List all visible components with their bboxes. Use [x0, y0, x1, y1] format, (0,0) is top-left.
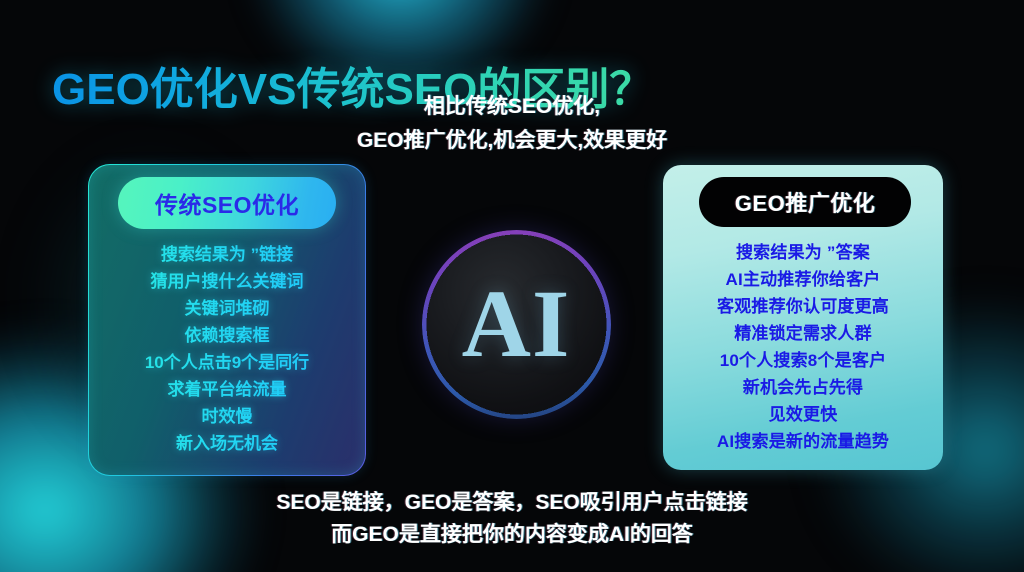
geo-promotion-panel: GEO推广优化 搜索结果为 ”答案 AI主动推荐你给客户 客观推荐你认可度更高 …	[663, 165, 943, 470]
list-item: 求着平台给流量	[89, 376, 365, 403]
traditional-seo-heading-pill: 传统SEO优化	[118, 177, 336, 229]
geo-promotion-list: 搜索结果为 ”答案 AI主动推荐你给客户 客观推荐你认可度更高 精准锁定需求人群…	[663, 239, 943, 455]
geo-promotion-heading-label: GEO推广优化	[735, 186, 875, 218]
list-item: AI主动推荐你给客户	[663, 266, 943, 293]
list-item: 搜索结果为 ”答案	[663, 239, 943, 266]
ai-badge-label: AI	[462, 276, 571, 372]
traditional-seo-panel: 传统SEO优化 搜索结果为 ”链接 猜用户搜什么关键词 关键词堆砌 依赖搜索框 …	[88, 164, 366, 476]
geo-promotion-heading-pill: GEO推广优化	[699, 177, 911, 227]
slide-bottom-note: SEO是链接，GEO是答案，SEO吸引用户点击链接 而GEO是直接把你的内容变成…	[0, 487, 1024, 551]
list-item: AI搜索是新的流量趋势	[663, 428, 943, 455]
subtitle-line-2: GEO推广优化,机会更大,效果更好	[0, 124, 1024, 158]
traditional-seo-heading-label: 传统SEO优化	[155, 186, 299, 220]
list-item: 时效慢	[89, 403, 365, 430]
ai-badge-circle: AI	[424, 232, 608, 416]
subtitle-line-1: 相比传统SEO优化,	[0, 90, 1024, 124]
traditional-seo-list: 搜索结果为 ”链接 猜用户搜什么关键词 关键词堆砌 依赖搜索框 10个人点击9个…	[89, 241, 365, 457]
bottom-note-line-2: 而GEO是直接把你的内容变成AI的回答	[0, 519, 1024, 551]
list-item: 精准锁定需求人群	[663, 320, 943, 347]
list-item: 依赖搜索框	[89, 322, 365, 349]
list-item: 新入场无机会	[89, 430, 365, 457]
list-item: 新机会先占先得	[663, 374, 943, 401]
slide-subtitle: 相比传统SEO优化, GEO推广优化,机会更大,效果更好	[0, 90, 1024, 158]
list-item: 猜用户搜什么关键词	[89, 268, 365, 295]
list-item: 客观推荐你认可度更高	[663, 293, 943, 320]
bottom-note-line-1: SEO是链接，GEO是答案，SEO吸引用户点击链接	[0, 487, 1024, 519]
list-item: 10个人点击9个是同行	[89, 349, 365, 376]
list-item: 关键词堆砌	[89, 295, 365, 322]
slide-canvas: GEO优化VS传统SEO的区别？ 相比传统SEO优化, GEO推广优化,机会更大…	[0, 0, 1024, 572]
list-item: 10个人搜索8个是客户	[663, 347, 943, 374]
list-item: 见效更快	[663, 401, 943, 428]
list-item: 搜索结果为 ”链接	[89, 241, 365, 268]
